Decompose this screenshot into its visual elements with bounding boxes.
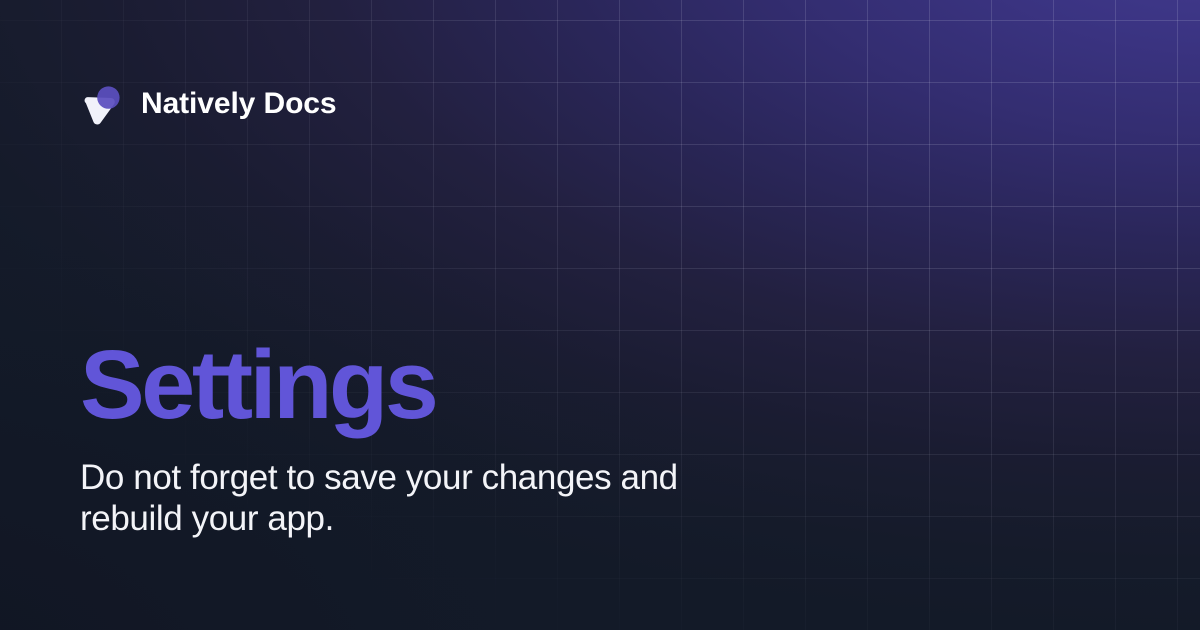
page-subtitle-line-2: rebuild your app. — [80, 499, 334, 538]
hero-block: Settings Do not forget to save your chan… — [80, 336, 1080, 539]
natively-logo-icon — [80, 82, 124, 126]
page-title: Settings — [80, 336, 1080, 433]
page-subtitle: Do not forget to save your changes and r… — [80, 433, 780, 539]
brand-name: Natively Docs — [141, 89, 336, 119]
page-subtitle-line-1: Do not forget to save your changes and — [80, 458, 678, 497]
brand-lockup[interactable]: Natively Docs — [80, 82, 336, 126]
og-card: Natively Docs Settings Do not forget to … — [0, 0, 1200, 630]
card-content: Natively Docs Settings Do not forget to … — [0, 0, 1200, 630]
